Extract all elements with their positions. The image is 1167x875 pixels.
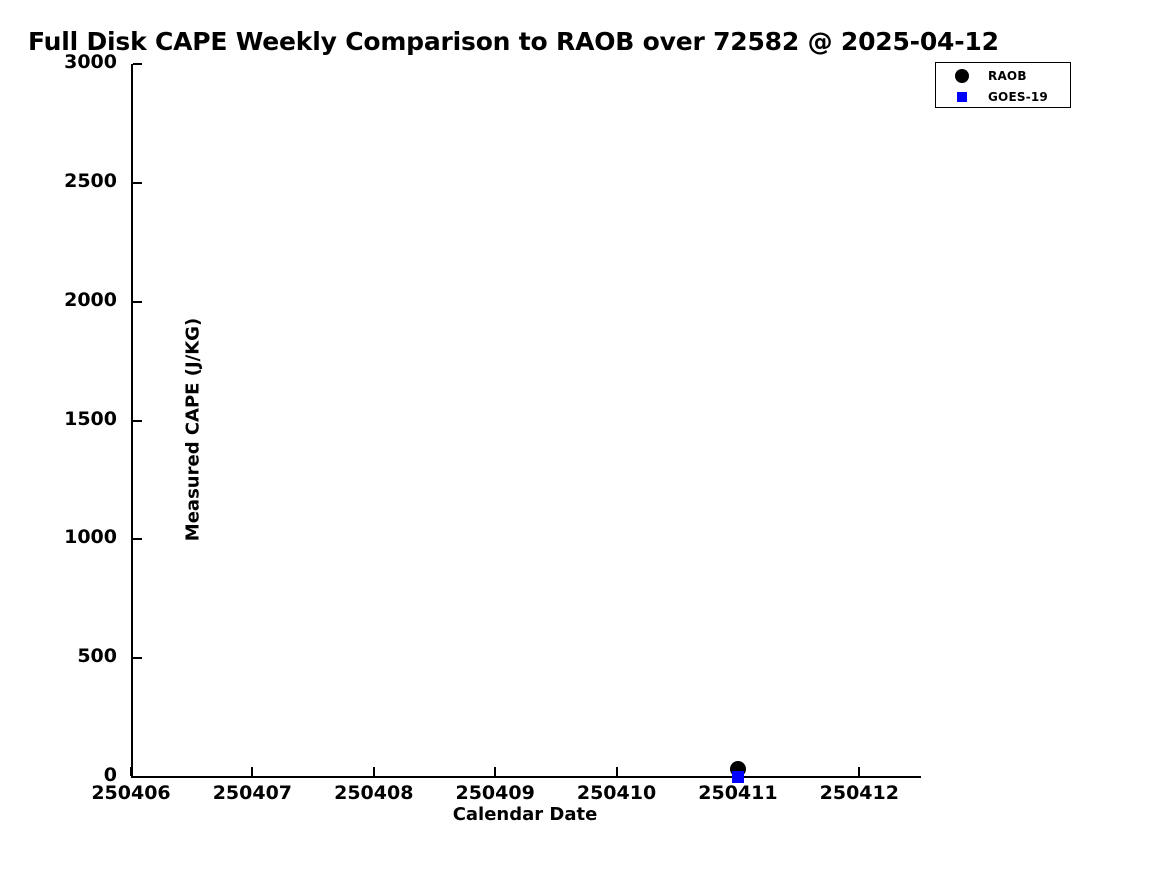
legend-item[interactable]: GOES-19 [936, 86, 1070, 107]
square-marker-icon [936, 92, 988, 102]
y-axis-tick-label: 2500 [0, 170, 117, 192]
y-axis-title: Measured CAPE (J/KG) [183, 73, 204, 787]
x-axis-tick-label: 250408 [304, 782, 444, 804]
page-title: Full Disk CAPE Weekly Comparison to RAOB… [28, 29, 999, 55]
chart-figure: Full Disk CAPE Weekly Comparison to RAOB… [0, 0, 1167, 875]
y-axis-tick-label: 500 [0, 645, 117, 667]
square-marker-icon-glyph [957, 92, 967, 102]
y-axis-tick-label: 2000 [0, 289, 117, 311]
x-axis-tick-label: 250406 [61, 782, 201, 804]
x-axis-title: Calendar Date [0, 804, 1050, 825]
y-axis-tick-label: 1500 [0, 408, 117, 430]
circle-marker-icon [936, 69, 988, 83]
y-axis-tick-label: 1000 [0, 526, 117, 548]
legend-item-label: GOES-19 [988, 90, 1048, 104]
legend-item-label: RAOB [988, 69, 1027, 83]
circle-marker-icon-glyph [955, 69, 969, 83]
x-axis-tick-label: 250412 [789, 782, 929, 804]
plot-area: Measured CAPE (J/KG) [131, 64, 920, 777]
x-axis-tick-label: 250410 [547, 782, 687, 804]
x-axis-tick-label: 250409 [425, 782, 565, 804]
legend-item[interactable]: RAOB [936, 65, 1070, 86]
y-axis-tick-label: 3000 [0, 51, 117, 73]
data-point-goes-19 [732, 771, 744, 783]
x-axis-tick-label: 250411 [668, 782, 808, 804]
legend-box: RAOBGOES-19 [935, 62, 1071, 108]
